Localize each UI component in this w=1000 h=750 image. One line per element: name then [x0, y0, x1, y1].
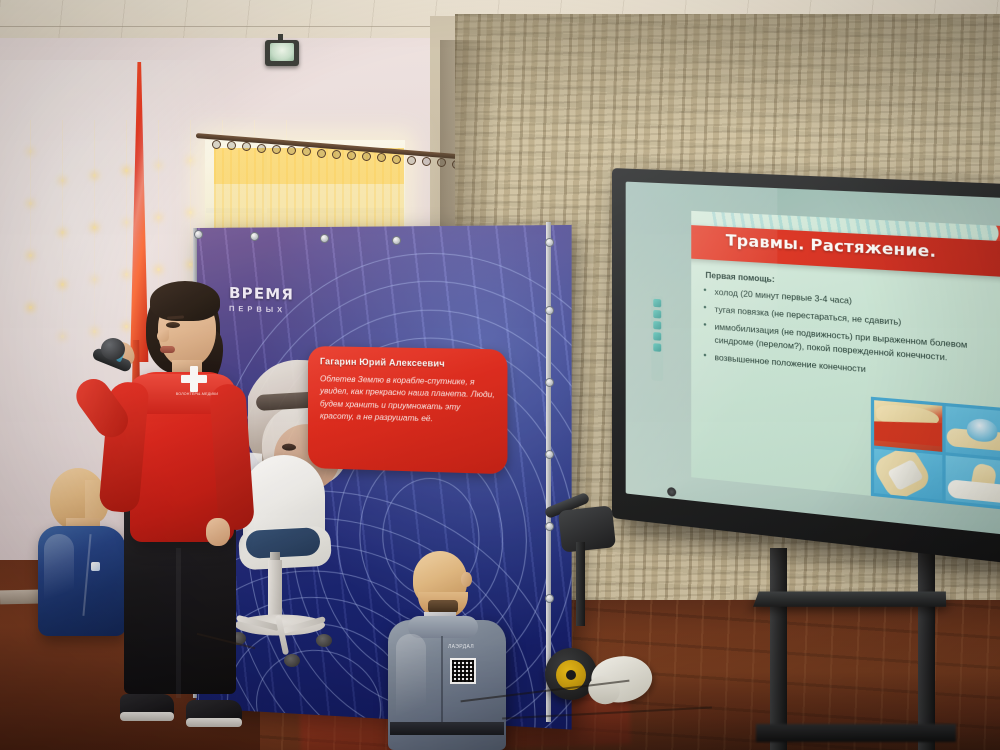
presenter-right-sole	[186, 718, 242, 727]
quote-author: Гагарин Юрий Алексеевич	[320, 356, 495, 369]
slide-image-injury	[874, 400, 942, 451]
manikin-right-belt	[390, 722, 504, 735]
panel-glare	[626, 182, 778, 510]
banner-frame-right	[546, 222, 551, 722]
manikin-brand-label: ЛАЭРДАЛ	[448, 644, 490, 650]
cosmonaut-eye	[282, 443, 296, 450]
slide-image-bandage	[874, 448, 942, 500]
chair-column	[268, 560, 282, 616]
presenter-trousers-crease	[176, 548, 181, 698]
qr-code-icon	[450, 658, 476, 684]
panel-display[interactable]: Травмы. Растяжение. Первая помощь: холод…	[626, 182, 1000, 536]
presenter-right-hand	[206, 518, 230, 546]
slide-image-elevation	[945, 455, 1000, 508]
slide-image-grid	[871, 397, 1000, 511]
manikin-right-zipper	[441, 636, 443, 730]
photo-scene: ВРЕМЯ ПЕРВЫХ Гагарин Юрий Алексеевич Обл…	[0, 0, 1000, 750]
microphone-head[interactable]	[101, 338, 125, 360]
chair-cushion	[245, 527, 320, 559]
presenter-nose	[157, 330, 169, 342]
presenter-mouth	[160, 346, 175, 353]
panel-power-led	[667, 487, 676, 497]
tv-stand-column-left	[770, 548, 787, 750]
tv-stand-column-right	[918, 540, 935, 750]
chair-castor	[284, 654, 300, 667]
chair-castor	[316, 634, 332, 647]
tv-stand-foot	[756, 724, 956, 742]
banner-quote-card: Гагарин Юрий Алексеевич Облетев Землю в …	[308, 346, 507, 474]
quote-body: Облетев Землю в корабле-спутнике, я увид…	[320, 373, 495, 428]
presenter-emblem-text: ВОЛОНТЁРЫ-МЕДИКИ	[172, 392, 222, 397]
manikin-left-badge	[91, 562, 100, 571]
emblem-label: ВОЛОНТЁРЫ-МЕДИКИ	[172, 392, 222, 397]
spotlight-lens	[270, 43, 294, 61]
banner-logo-line1: ВРЕМЯ	[229, 284, 315, 304]
curtain-top-shadow	[455, 14, 1000, 134]
manikin-left-jacket-highlight	[44, 534, 74, 626]
presenter-left-sole	[120, 712, 174, 721]
manikin-right-ear	[461, 572, 472, 587]
slide-image-ice-pack	[945, 406, 1000, 458]
presenter-eye	[166, 322, 180, 328]
tv-stand-shelf	[753, 591, 946, 606]
cable-reel-hub	[566, 670, 576, 680]
stool-column	[576, 542, 585, 626]
presenter-hair-front	[150, 281, 220, 321]
stool-seat[interactable]	[558, 505, 616, 552]
interactive-panel[interactable]: Травмы. Растяжение. Первая помощь: холод…	[612, 168, 1000, 566]
manikin-right-brand: ЛАЭРДАЛ	[448, 644, 490, 656]
banner-logo: ВРЕМЯ ПЕРВЫХ	[229, 284, 315, 315]
